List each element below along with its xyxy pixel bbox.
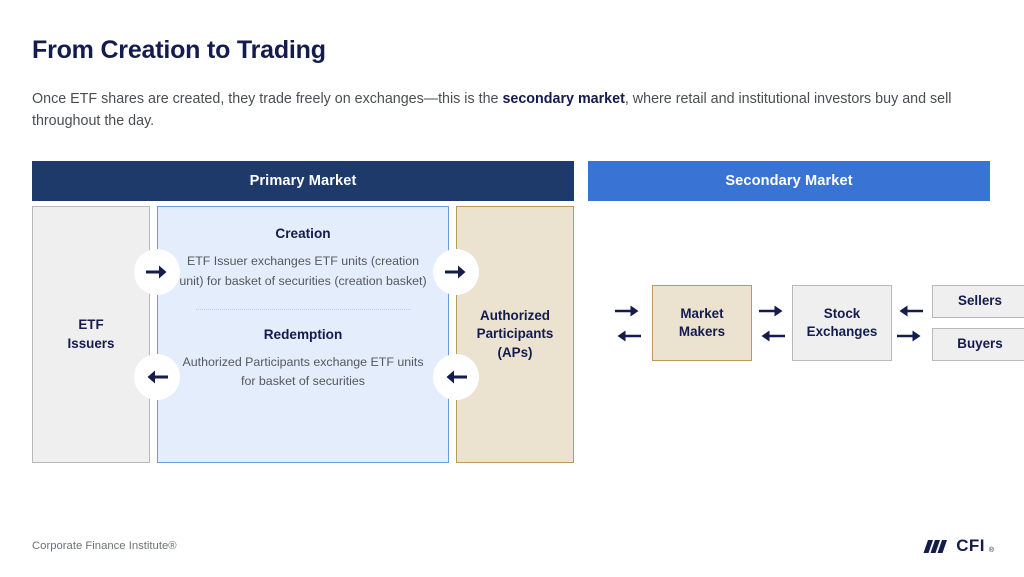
- creation-heading: Creation: [174, 225, 432, 243]
- cfi-logo-registered-mark: ®: [989, 547, 994, 556]
- aps-label-line-1: Authorized: [477, 307, 554, 325]
- arrows-market-makers-exchanges: [754, 292, 790, 354]
- section-divider: [196, 309, 411, 310]
- arrow-right-icon: [613, 302, 643, 320]
- redemption-block: Redemption Authorized Participants excha…: [174, 326, 432, 392]
- authorized-participants-label: Authorized Participants (APs): [477, 307, 554, 361]
- redemption-heading: Redemption: [174, 326, 432, 344]
- arrows-aps-market-makers: [610, 292, 646, 354]
- aps-label-line-2: Participants: [477, 325, 554, 343]
- arrow-left-icon-redemption-to-issuers: [134, 354, 180, 400]
- stock-exchanges-label-line-1: Stock: [807, 305, 878, 323]
- arrow-right-icon-issuers-to-creation: [134, 249, 180, 295]
- arrows-exchanges-investors: [892, 292, 928, 354]
- primary-market-body: ETF Issuers Creation ETF Issuer exchange…: [32, 206, 574, 463]
- footer-attribution: Corporate Finance Institute®: [32, 540, 177, 552]
- page-title: From Creation to Trading: [32, 36, 326, 65]
- market-makers-label-line-1: Market: [679, 305, 725, 323]
- sellers-label: Sellers: [958, 292, 1002, 310]
- box-buyers: Buyers: [932, 328, 1024, 361]
- redemption-description: Authorized Participants exchange ETF uni…: [174, 353, 432, 391]
- aps-label-line-3: (APs): [477, 344, 554, 362]
- creation-to-trading-diagram: Primary Market Secondary Market ETF Issu…: [32, 161, 990, 463]
- arrow-left-icon: [895, 302, 925, 320]
- stock-exchanges-label: Stock Exchanges: [807, 305, 878, 341]
- arrow-left-icon-aps-to-redemption: [433, 354, 479, 400]
- panel-creation-redemption: Creation ETF Issuer exchanges ETF units …: [157, 206, 449, 463]
- stock-exchanges-label-line-2: Exchanges: [807, 323, 878, 341]
- panel-etf-issuers: ETF Issuers: [32, 206, 150, 463]
- box-stock-exchanges: Stock Exchanges: [792, 285, 892, 361]
- etf-issuers-label: ETF Issuers: [68, 316, 115, 352]
- cfi-logo: CFI ®: [922, 536, 994, 556]
- market-makers-label: Market Makers: [679, 305, 725, 341]
- primary-market-header: Primary Market: [32, 161, 574, 201]
- cfi-logo-wordmark: CFI: [956, 536, 985, 556]
- secondary-market-header: Secondary Market: [588, 161, 990, 201]
- panel-authorized-participants: Authorized Participants (APs): [456, 206, 574, 463]
- box-sellers: Sellers: [932, 285, 1024, 318]
- arrow-right-icon-creation-to-aps: [433, 249, 479, 295]
- secondary-market-body: Market Makers Stock Exchanges: [588, 206, 990, 463]
- box-market-makers: Market Makers: [652, 285, 752, 361]
- buyers-label: Buyers: [957, 335, 1002, 353]
- creation-description: ETF Issuer exchanges ETF units (creation…: [174, 252, 432, 290]
- cfi-logo-mark-icon: [922, 538, 952, 555]
- arrow-right-icon: [757, 302, 787, 320]
- market-makers-label-line-2: Makers: [679, 323, 725, 341]
- etf-issuers-label-line-1: ETF: [68, 316, 115, 334]
- subtitle-text-part-1: Once ETF shares are created, they trade …: [32, 91, 502, 107]
- page-subtitle: Once ETF shares are created, they trade …: [32, 88, 982, 132]
- etf-issuers-label-line-2: Issuers: [68, 335, 115, 353]
- subtitle-emphasis-secondary-market: secondary market: [502, 91, 624, 107]
- arrow-left-icon: [757, 327, 787, 345]
- creation-block: Creation ETF Issuer exchanges ETF units …: [174, 225, 432, 291]
- arrow-right-icon: [895, 327, 925, 345]
- arrow-left-icon: [613, 327, 643, 345]
